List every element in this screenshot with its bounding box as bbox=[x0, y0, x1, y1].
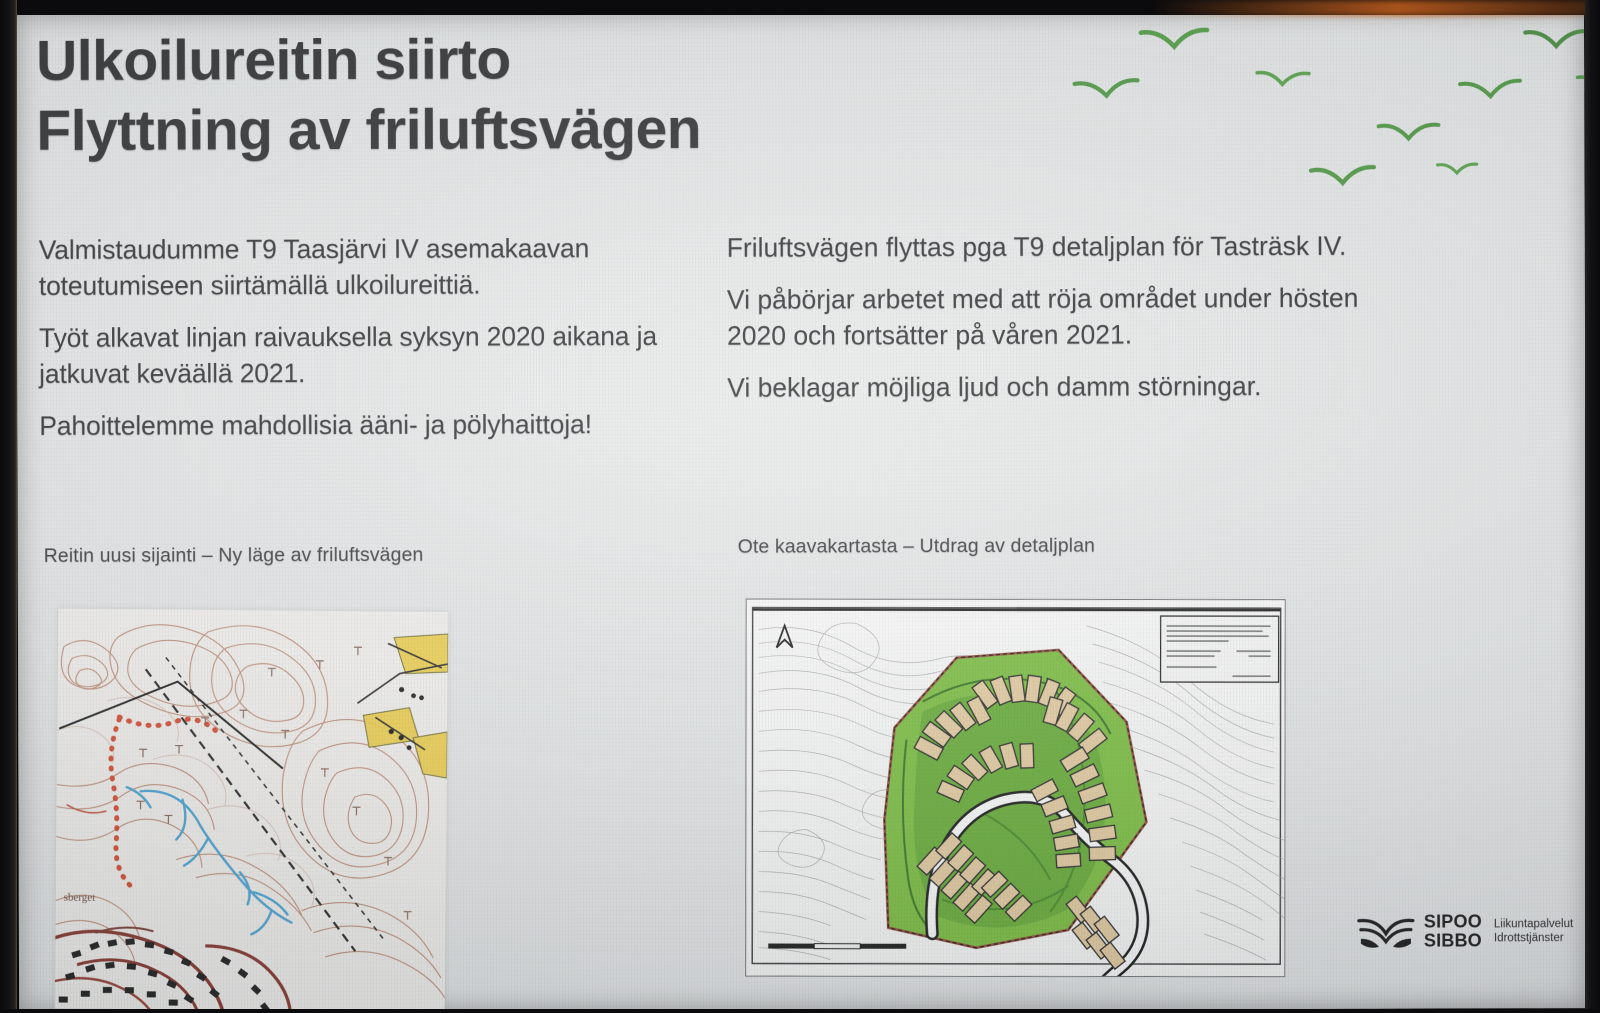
page-title: Ulkoilureitin siirto Flyttning av friluf… bbox=[36, 23, 1036, 166]
bird-icon bbox=[1436, 161, 1479, 180]
terrain-map-graphic: sberget bbox=[55, 609, 449, 1013]
sipoo-gull-icon bbox=[1357, 912, 1415, 952]
plan-legend-box bbox=[1161, 616, 1279, 682]
plan-scale-bar bbox=[768, 944, 906, 949]
logo-line-sipoo: SIPOO bbox=[1424, 912, 1482, 931]
paragraph: Pahoittelemme mahdollisia ääni- ja pölyh… bbox=[39, 406, 699, 444]
sipoo-sibbo-logo: SIPOO SIBBO Liikuntapalvelut Idrottstjän… bbox=[1357, 911, 1573, 952]
paragraph: Työt alkavat linjan raivauksella syksyn … bbox=[39, 318, 699, 392]
bird-icon bbox=[1457, 76, 1525, 109]
text-column-swedish: Friluftsvägen flyttas pga T9 detaljplan … bbox=[727, 228, 1368, 422]
bird-icon bbox=[1376, 119, 1444, 150]
caption-right-map: Ote kaavakartasta – Utdrag av detaljplan bbox=[738, 535, 1095, 559]
logo-line-sibbo: SIBBO bbox=[1424, 931, 1482, 950]
bird-icon bbox=[1138, 25, 1213, 61]
slide-surface: Ulkoilureitin siirto Flyttning av friluf… bbox=[16, 9, 1587, 1013]
bird-icon bbox=[1254, 68, 1312, 94]
bezel-bottom bbox=[0, 1009, 1600, 1013]
bezel-right bbox=[1585, 0, 1600, 1013]
photographed-slide: Ulkoilureitin siirto Flyttning av friluf… bbox=[0, 0, 1600, 1013]
bird-icon bbox=[1071, 74, 1143, 109]
bird-icon bbox=[1308, 162, 1380, 196]
logo-sub-sv: Idrottstjänster bbox=[1494, 931, 1573, 946]
title-line-fi: Ulkoilureitin siirto bbox=[36, 23, 1036, 96]
paragraph: Vi beklagar möjliga ljud och damm störni… bbox=[727, 368, 1367, 406]
bezel-left bbox=[0, 0, 17, 1013]
caption-left-map: Reitin uusi sijainti – Ny läge av friluf… bbox=[44, 544, 424, 568]
bezel-glare bbox=[1150, 0, 1600, 16]
logo-main-text: SIPOO SIBBO bbox=[1424, 912, 1482, 950]
map-place-label: sberget bbox=[64, 892, 96, 904]
logo-sub-fi: Liikuntapalvelut bbox=[1494, 917, 1573, 932]
text-column-finnish: Valmistaudumme T9 Taasjärvi IV asemakaav… bbox=[39, 230, 700, 460]
detail-plan-graphic bbox=[746, 600, 1285, 978]
logo-text: SIPOO SIBBO Liikuntapalvelut Idrottstjän… bbox=[1424, 912, 1573, 950]
detail-plan-figure bbox=[745, 599, 1285, 978]
title-line-sv: Flyttning av friluftsvägen bbox=[36, 93, 1036, 166]
bird-icon bbox=[1522, 26, 1587, 58]
paragraph: Valmistaudumme T9 Taasjärvi IV asemakaav… bbox=[39, 230, 699, 304]
paragraph: Vi påbörjar arbetet med att röja området… bbox=[727, 280, 1367, 354]
paragraph: Friluftsvägen flyttas pga T9 detaljplan … bbox=[727, 228, 1367, 266]
flying-birds-decoration bbox=[1056, 13, 1587, 225]
logo-sub-text: Liikuntapalvelut Idrottstjänster bbox=[1494, 917, 1573, 946]
terrain-map-figure: sberget bbox=[55, 609, 449, 1013]
